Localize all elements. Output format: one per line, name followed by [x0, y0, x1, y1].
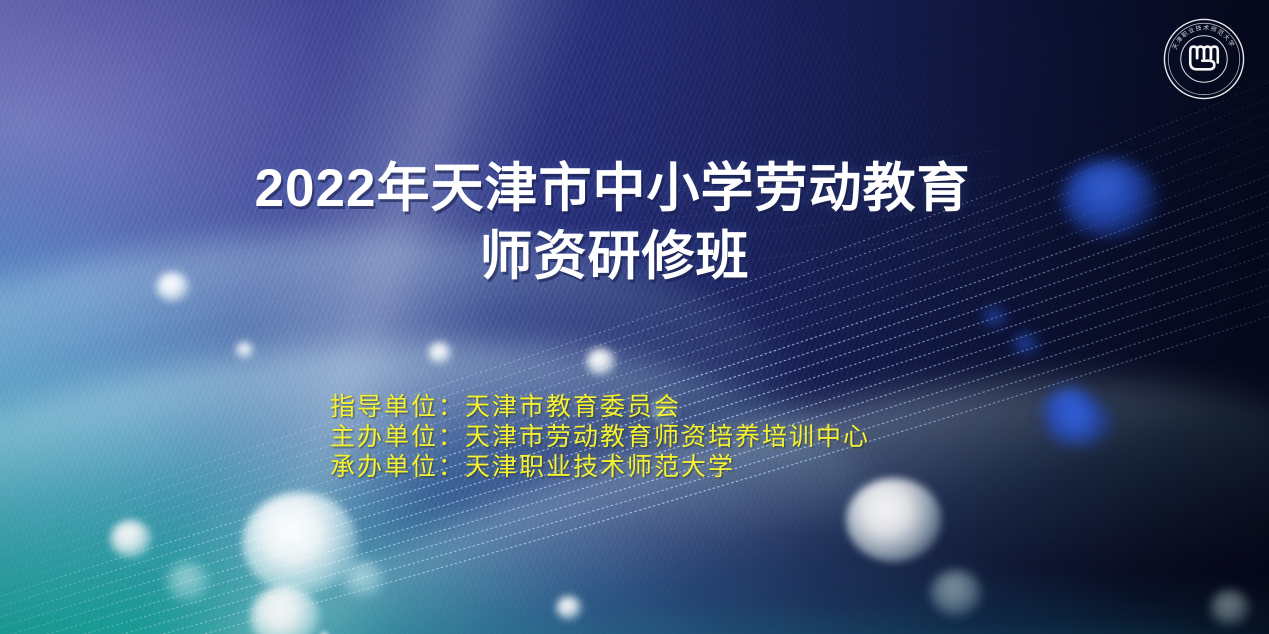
- background-dotted-curve-fan: [0, 0, 1269, 634]
- host-unit-line: 主办单位：天津市劳动教育师资培养培训中心: [330, 422, 870, 452]
- emblem-ring-char: 技: [1195, 24, 1202, 33]
- guidance-unit-line: 指导单位：天津市教育委员会: [330, 392, 870, 422]
- organizer-list: 指导单位：天津市教育委员会 主办单位：天津市劳动教育师资培养培训中心 承办单位：…: [330, 392, 870, 482]
- university-logo: 天 津 职 业 技 术 师 范 大 学 T U T E: [1161, 16, 1247, 102]
- slide-title: 2022年天津市中小学劳动教育 师资研修班: [0, 155, 1269, 291]
- emblem-ring-char: 术: [1203, 24, 1210, 32]
- dotted-curve-fan-svg: [0, 0, 1269, 634]
- presentation-slide: 天 津 职 业 技 术 师 范 大 学 T U T E 2022年天津市中小学劳…: [0, 0, 1269, 634]
- organizer-unit-line: 承办单位：天津职业技术师范大学: [330, 452, 870, 482]
- title-line-1: 2022年天津市中小学劳动教育: [0, 155, 1247, 223]
- tute-emblem-icon: 天 津 职 业 技 术 师 范 大 学 T U T E: [1161, 16, 1247, 102]
- title-line-2: 师资研修班: [0, 223, 1249, 291]
